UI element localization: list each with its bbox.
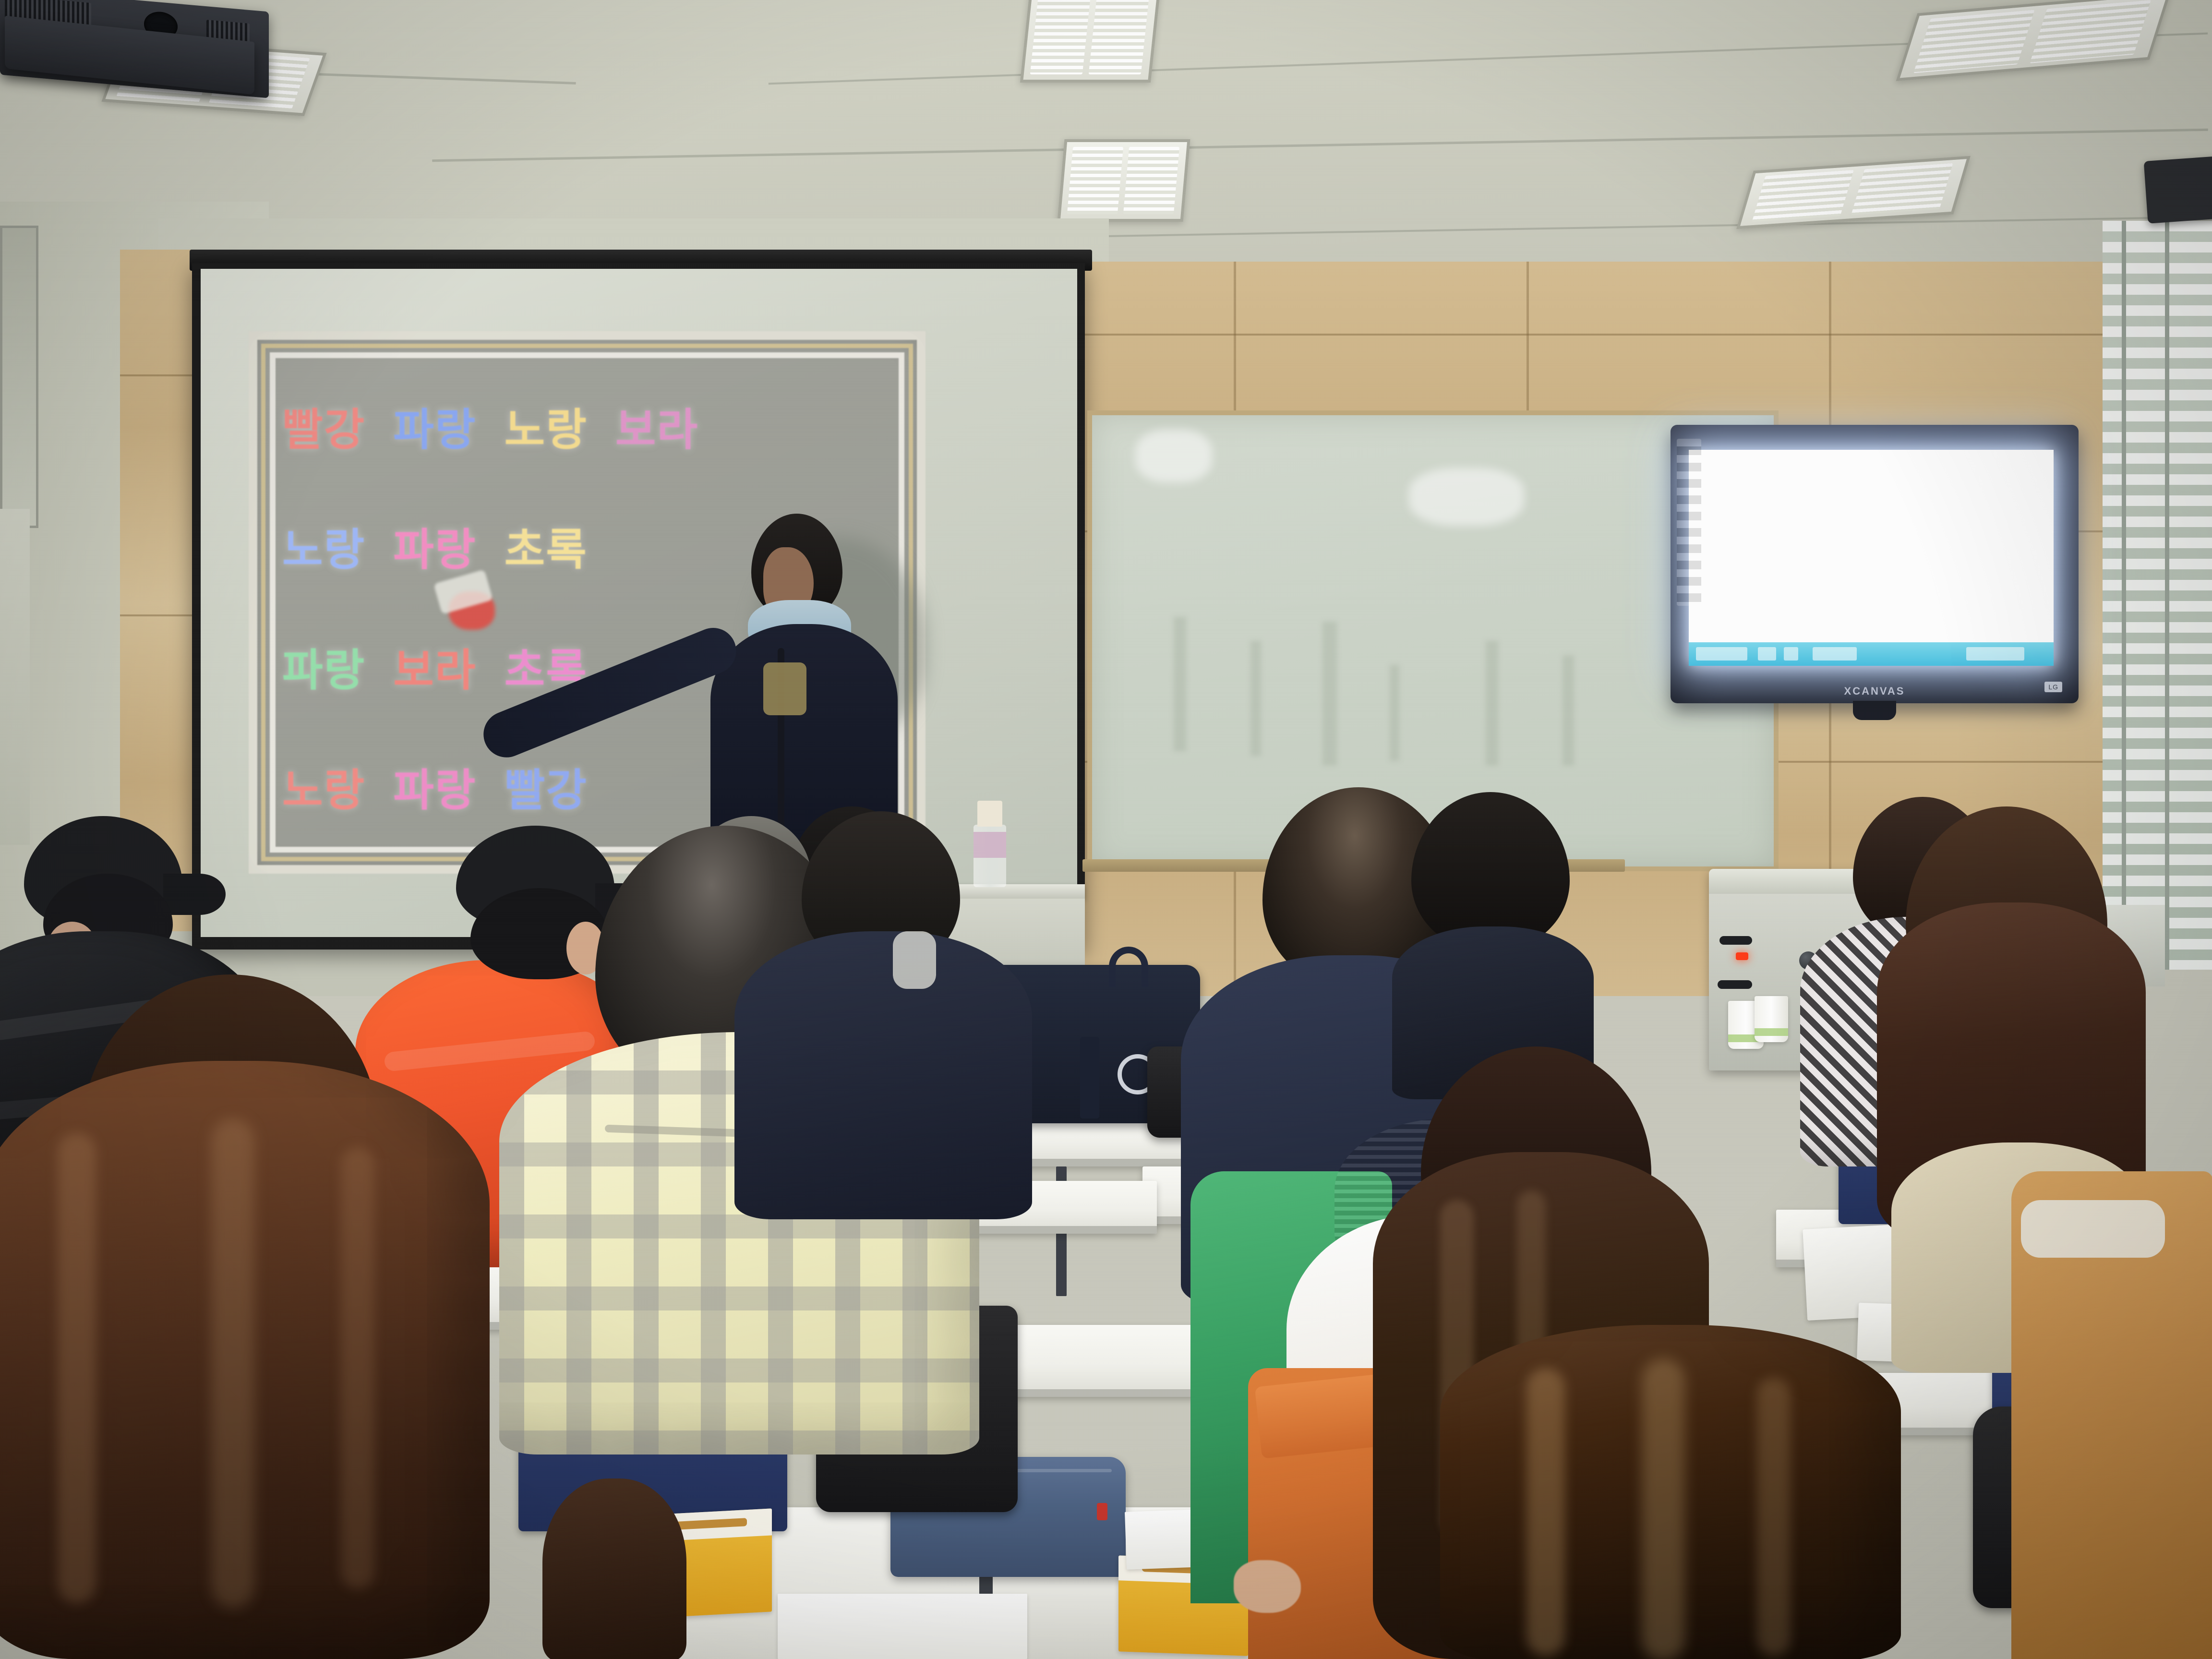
stroop-word: 파랑: [393, 514, 476, 578]
tv-taskbar: [1689, 642, 2054, 666]
attendee-highlighted-hair-front: [1440, 1325, 1901, 1659]
stroop-word: 파랑: [393, 755, 476, 818]
light-fixture: [1020, 0, 1160, 83]
stroop-word: 보라: [393, 635, 476, 698]
hair-highlight: [1757, 1378, 1791, 1656]
tv-side-buttons[interactable]: [1677, 439, 1701, 606]
stroop-word: 빨강: [282, 394, 365, 458]
hand: [1234, 1560, 1301, 1613]
stroop-word: 파랑: [282, 635, 365, 698]
attendee-camel-coat: [2011, 1171, 2212, 1659]
light-fixture: [1057, 139, 1190, 222]
stroop-word: 파랑: [393, 394, 476, 458]
attendee-dark-jacket-center: [734, 811, 1032, 1214]
attendee-short-dark-hair: [1392, 792, 1594, 1090]
television[interactable]: XCANVAS LG: [1671, 425, 2079, 703]
paper-cup[interactable]: [1755, 996, 1788, 1042]
podium-knob[interactable]: [1718, 980, 1752, 989]
stroop-word: 보라: [615, 394, 698, 458]
tv-screen: [1689, 450, 2054, 666]
hair-highlight: [58, 1133, 96, 1603]
presenter-badge: [763, 662, 806, 715]
tv-maker-badge: LG: [2044, 682, 2062, 692]
cap-brim: [163, 874, 226, 915]
stroop-word: 노랑: [505, 394, 588, 458]
stroop-word: 노랑: [282, 755, 365, 818]
wall-cabinet-left: [0, 226, 38, 528]
hair-highlight: [341, 1147, 374, 1589]
podium-power-indicator: [1736, 952, 1748, 960]
loose-paper[interactable]: [778, 1594, 1027, 1659]
wall-panel-left: [0, 509, 30, 845]
dark-jacket: [734, 931, 1032, 1219]
tv-stand: [1853, 701, 1896, 720]
stroop-word: 노랑: [282, 514, 365, 578]
white-knit-collar: [2021, 1200, 2165, 1258]
stroop-word: 빨강: [505, 755, 588, 818]
tv-brand-label: XCANVAS: [1844, 685, 1905, 697]
podium-knob[interactable]: [1719, 936, 1752, 945]
hair-highlight: [1527, 1368, 1565, 1656]
stroop-row: 빨강 파랑 노랑 보라: [282, 394, 906, 458]
stroop-word: 초록: [505, 514, 588, 578]
shirt-collar: [893, 931, 936, 989]
attendee-partial-head: [542, 1479, 686, 1659]
hair-highlight: [1642, 1358, 1685, 1659]
hair-highlight: [211, 1118, 254, 1608]
classroom-scene: 빨강 파랑 노랑 보라 노랑 파랑 초록 파랑 보라 초록 노랑 파랑: [0, 0, 2212, 1659]
attendee-long-brown-hair-front: [0, 974, 509, 1659]
ceiling-speaker: [2144, 156, 2212, 224]
